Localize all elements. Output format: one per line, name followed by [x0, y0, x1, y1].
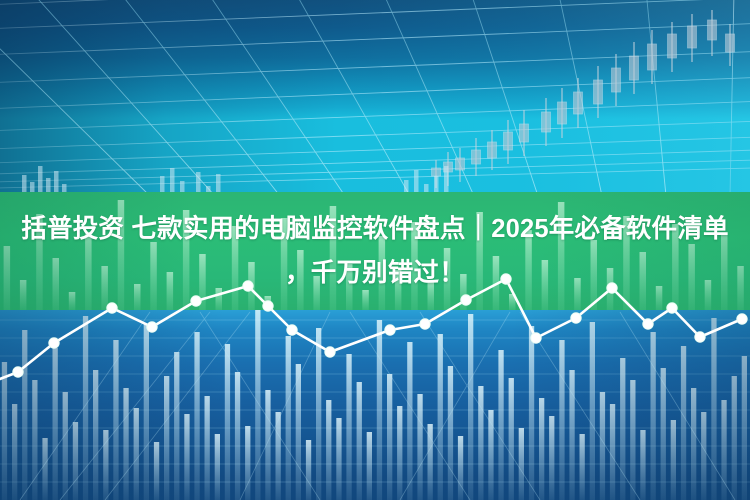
title-line-2: ，千万别错过！	[285, 251, 465, 295]
banner-image: 括普投资 七款实用的电脑监控软件盘点｜2025年必备软件清单 ，千万别错过！	[0, 0, 750, 500]
banner-title: 括普投资 七款实用的电脑监控软件盘点｜2025年必备软件清单 ，千万别错过！	[0, 192, 750, 310]
title-line-1: 括普投资 七款实用的电脑监控软件盘点｜2025年必备软件清单	[21, 207, 728, 251]
